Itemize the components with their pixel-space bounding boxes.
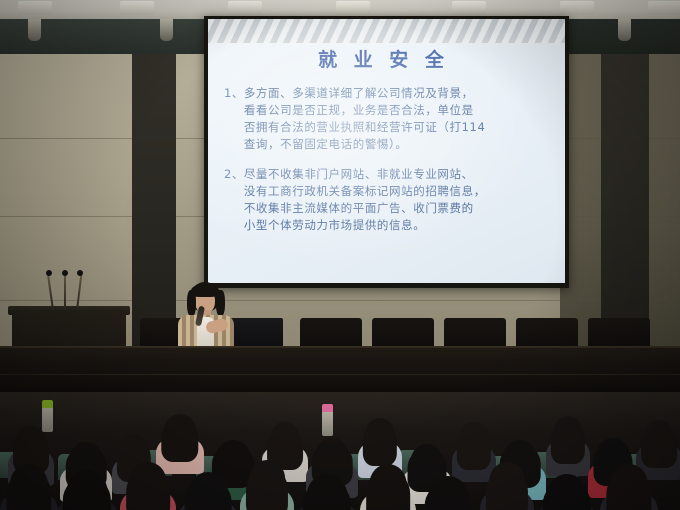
audience-area [0,392,680,510]
ceiling-light [560,1,594,15]
ceiling-light [648,1,680,15]
recessed-lamp [28,19,41,41]
bottle-cap [322,404,333,412]
slide-bullet-lines: 尽量不收集非门户网站、非就业专业网站、没有工商行政机关备案标记网站的招聘信息，不… [244,166,553,234]
audience-member [546,416,590,474]
audience-head [315,438,349,474]
slide-bullet-line: 查询，不留固定电话的警惕）。 [244,136,553,153]
pink-cap-tumbler [322,410,333,436]
audience-member [56,470,118,510]
presenter [170,282,242,352]
microphone-stem [64,272,66,310]
audience-head [119,434,148,465]
slide-bullet-line: 小型个体劳动力市场提供的信息。 [244,217,553,234]
slide-bullet: 2、尽量不收集非门户网站、非就业专业网站、没有工商行政机关备案标记网站的招聘信息… [214,166,553,234]
slide-content: 就 业 安 全 1、多方面、多渠道详细了解公司情况及背景，看看公司是否正规，业务… [208,19,565,234]
slide-bullet-line: 否拥有合法的营业执照和经营许可证（打114 [244,119,553,136]
audience-head [188,472,228,510]
audience-member [360,464,416,510]
audience-member [240,460,294,510]
audience-head [249,460,285,498]
audience-head [553,416,582,447]
audience-head [489,462,525,500]
ceiling-light [452,1,486,15]
ceiling-light [120,1,154,15]
wall-panel-seam [0,300,680,301]
audience-member [418,476,478,510]
presenter-hair-side [187,290,196,316]
audience-head [610,464,648,505]
audience-member [178,472,238,510]
slide-title: 就 业 安 全 [214,45,553,72]
slide-bullet-list: 1、多方面、多渠道详细了解公司情况及背景，看看公司是否正规，业务是否合法，单位是… [214,85,553,234]
slide-bullet-lines: 多方面、多渠道详细了解公司情况及背景，看看公司是否正规，业务是否合法，单位是否拥… [244,85,553,153]
stage-table-groove [0,374,680,375]
recessed-lamp [618,19,631,41]
audience-head [164,414,196,448]
slide-bullet-marker: 1、 [224,85,244,153]
ceiling-light [336,1,370,15]
presentation-slide: 就 业 安 全 1、多方面、多渠道详细了解公司情况及背景，看看公司是否正规，业务… [208,19,565,283]
audience-member [296,474,358,510]
audience-head [370,464,407,503]
slide-bullet-line: 不收集非主流媒体的平面广告、收门票费的 [244,200,553,217]
audience-head [547,474,588,510]
projection-screen: 就 业 安 全 1、多方面、多渠道详细了解公司情况及背景，看看公司是否正规，业务… [204,16,569,288]
lecture-hall-photo: 就 业 安 全 1、多方面、多渠道详细了解公司情况及背景，看看公司是否正规，业务… [0,0,680,510]
audience-head [130,462,167,501]
slide-bullet-line: 尽量不收集非门户网站、非就业专业网站、 [244,166,553,183]
audience-member [536,474,598,510]
slide-bullet-line: 没有工商行政机关备案标记网站的招聘信息， [244,183,553,200]
audience-head [307,474,348,510]
audience-head [270,422,300,454]
presenter-hair-side [216,290,225,316]
bottle-cap [42,400,53,408]
recessed-lamp [160,19,173,41]
audience-head [365,418,394,449]
slide-bullet-marker: 2、 [224,166,244,234]
audience-member [600,464,658,510]
audience-member [0,464,58,510]
wall-pilaster-right [601,54,649,354]
slide-bullet-line: 多方面、多渠道详细了解公司情况及背景， [244,85,553,102]
slide-bullet-line: 看看公司是否正规，业务是否合法，单位是 [244,102,553,119]
audience-member [480,462,534,510]
ceiling-light [18,1,52,15]
audience-member [120,462,176,510]
audience-head [459,422,488,453]
audience-head [644,420,674,452]
microphone-head [62,270,68,276]
slide-bullet: 1、多方面、多渠道详细了解公司情况及背景，看看公司是否正规，业务是否合法，单位是… [214,85,553,153]
green-cap-water-bottle [42,406,53,432]
audience-head [67,470,108,510]
audience-head [428,476,468,510]
stage-table [0,348,680,396]
ceiling-light [228,1,262,15]
audience-head [10,464,48,505]
